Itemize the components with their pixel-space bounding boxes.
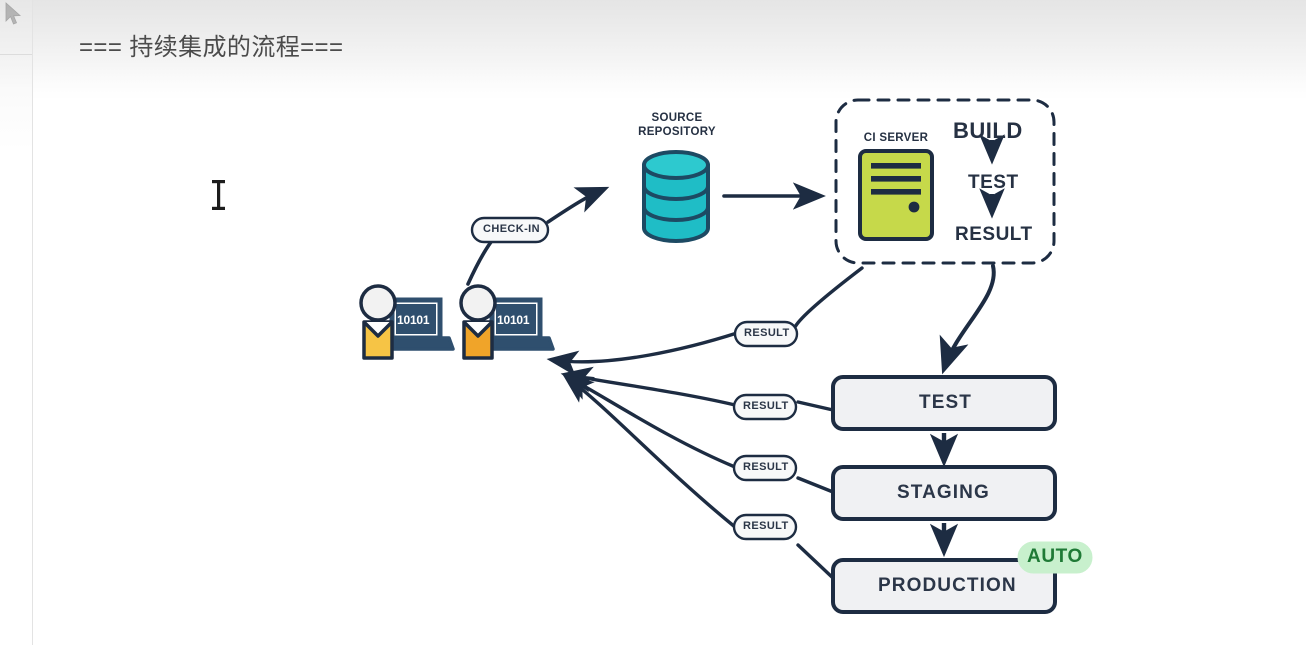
stage-label-staging: STAGING (897, 482, 990, 504)
ci-step-result: RESULT (955, 224, 1033, 246)
ci-step-build: BUILD (953, 118, 1023, 144)
ci-step-test: TEST (968, 172, 1019, 194)
server-rack-icon (860, 151, 932, 239)
source-repository-label: SOURCE REPOSITORY (629, 111, 725, 139)
stage-label-production: PRODUCTION (878, 575, 1017, 597)
source-repository-icon (644, 152, 708, 241)
ci-flow-diagram (0, 0, 1306, 645)
source-repository-label-line2: REPOSITORY (629, 125, 725, 139)
developer-binary-label-1: 10101 (397, 313, 429, 327)
result-pill-label-1: RESULT (744, 327, 790, 339)
ci-server-label: CI SERVER (856, 132, 936, 144)
developer-binary-label-2: 10101 (497, 313, 529, 327)
result-pill-label-2: RESULT (743, 400, 789, 412)
source-repository-label-line1: SOURCE (629, 111, 725, 125)
stage-label-test: TEST (919, 392, 972, 414)
result-pill-label-3: RESULT (743, 461, 789, 473)
result-pill-label-4: RESULT (743, 520, 789, 532)
checkin-pill-label: CHECK-IN (483, 223, 540, 235)
screen-root: === 持续集成的流程=== (0, 0, 1306, 645)
auto-badge-label: AUTO (1027, 546, 1083, 568)
